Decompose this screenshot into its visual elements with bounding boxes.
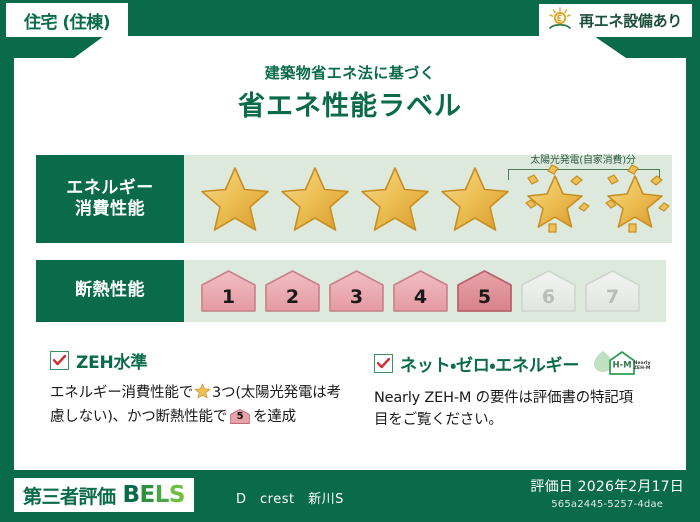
zeh-criteria-body: エネルギー消費性能で3つ(太陽光発電は考慮しない)、かつ断熱性能で5を達成 bbox=[50, 382, 350, 429]
star-rating bbox=[184, 163, 672, 235]
label-title: 省エネ性能ラベル bbox=[14, 84, 686, 123]
inline-star-icon bbox=[194, 383, 211, 406]
star-solar-6 bbox=[598, 163, 672, 235]
label-card: 建築物省エネ法に基づく 省エネ性能ラベル エネルギー 消費性能 太陽光発電(自家… bbox=[14, 36, 686, 470]
zeh-body-starcount: 3つ bbox=[212, 385, 235, 401]
insulation-level-3-number: 3 bbox=[326, 286, 387, 308]
footer-bar: 第三者評価 BELS D crest 新川S 評価日 2026年2月17日 56… bbox=[0, 470, 700, 522]
evaluation-date-label: 評価日 bbox=[530, 479, 573, 495]
insulation-level-1: 1 bbox=[198, 267, 259, 315]
svg-text:ZEH-M: ZEH-M bbox=[634, 365, 651, 371]
star-filled-2 bbox=[278, 163, 352, 235]
insulation-performance-label: 断熱性能 bbox=[36, 260, 184, 322]
net-zero-criteria-title: ネット・ゼロ・エネルギー bbox=[400, 351, 579, 376]
insulation-level-5: 5 bbox=[454, 267, 515, 315]
star-solar-5 bbox=[518, 163, 592, 235]
zeh-body-part1: エネルギー消費性能で bbox=[50, 385, 193, 401]
net-zero-criteria-block: ネット・ゼロ・エネルギー H-M Nearly ZEH-M Nearly ZEH… bbox=[374, 348, 674, 432]
energy-performance-row: エネルギー 消費性能 太陽光発電(自家消費)分 bbox=[36, 155, 666, 243]
sun-icon bbox=[547, 7, 573, 35]
insulation-level-5-number: 5 bbox=[454, 286, 515, 308]
renewable-equipment-badge: 再エネ設備あり bbox=[539, 4, 692, 37]
evaluation-date-value: 2026年2月17日 bbox=[578, 479, 684, 495]
svg-text:H-M: H-M bbox=[613, 361, 632, 371]
insulation-level-4: 4 bbox=[390, 267, 451, 315]
insulation-levels-panel: 1 2 3 bbox=[184, 260, 666, 322]
energy-performance-stars-panel: 太陽光発電(自家消費)分 bbox=[184, 155, 672, 243]
zeh-body-part4: を達成 bbox=[253, 409, 296, 425]
insulation-level-1-number: 1 bbox=[198, 286, 259, 308]
net-zero-body-line1: Nearly ZEH-M の要件は評価書の特記項 bbox=[374, 387, 674, 409]
building-type-label: 住宅 (住棟) bbox=[24, 8, 110, 33]
energy-label-line1: エネルギー bbox=[66, 178, 154, 199]
insulation-level-scale: 1 2 3 bbox=[184, 267, 643, 315]
label-root: 住宅 (住棟) 再エネ設備あり 建築物省エネ法に基づく 省エネ性能ラベル bbox=[0, 0, 700, 522]
insulation-label-text: 断熱性能 bbox=[75, 280, 145, 301]
evaluation-date: 評価日 2026年2月17日 bbox=[530, 476, 684, 496]
renewable-badge-label: 再エネ設備あり bbox=[579, 10, 682, 31]
zeh-body-part2: (太陽光発電 bbox=[235, 385, 312, 401]
insulation-level-3: 3 bbox=[326, 267, 387, 315]
star-filled-4 bbox=[438, 163, 512, 235]
zeh-criteria-block: ZEH水準 エネルギー消費性能で3つ(太陽光発電は考慮しない)、かつ断熱性能で5… bbox=[50, 348, 350, 429]
insulation-level-6: 6 bbox=[518, 267, 579, 315]
zeh-criteria-header: ZEH水準 bbox=[50, 348, 350, 373]
insulation-performance-row: 断熱性能 bbox=[36, 260, 666, 322]
bels-letter-l: L bbox=[155, 482, 169, 508]
energy-label-line2: 消費性能 bbox=[75, 199, 145, 220]
insulation-level-7-number: 7 bbox=[582, 286, 643, 308]
evaluation-info: 評価日 2026年2月17日 565a2445-5257-4dae bbox=[530, 476, 684, 510]
evaluation-id: 565a2445-5257-4dae bbox=[530, 499, 684, 510]
check-icon bbox=[374, 354, 393, 373]
property-name: D crest 新川S bbox=[236, 488, 344, 507]
net-zero-criteria-header: ネット・ゼロ・エネルギー H-M Nearly ZEH-M bbox=[374, 348, 674, 378]
insulation-level-2: 2 bbox=[262, 267, 323, 315]
star-filled-1 bbox=[198, 163, 272, 235]
bels-letter-e: E bbox=[140, 482, 155, 508]
bels-logo-text: BELS bbox=[123, 482, 185, 508]
bels-letter-b: B bbox=[123, 482, 140, 508]
net-zero-body-line2: 目をご覧ください。 bbox=[374, 409, 674, 431]
inline-house-badge-icon: 5 bbox=[229, 408, 251, 425]
insulation-level-4-number: 4 bbox=[390, 286, 451, 308]
third-party-evaluation-label: 第三者評価 bbox=[23, 482, 116, 509]
star-filled-3 bbox=[358, 163, 432, 235]
insulation-level-6-number: 6 bbox=[518, 286, 579, 308]
insulation-level-7: 7 bbox=[582, 267, 643, 315]
label-subtitle: 建築物省エネ法に基づく bbox=[14, 62, 686, 83]
bels-letter-s: S bbox=[169, 482, 185, 508]
net-zero-criteria-body: Nearly ZEH-M の要件は評価書の特記項 目をご覧ください。 bbox=[374, 387, 674, 432]
bels-badge: 第三者評価 BELS bbox=[14, 478, 194, 512]
zeh-criteria-title: ZEH水準 bbox=[76, 348, 147, 373]
insulation-level-2-number: 2 bbox=[262, 286, 323, 308]
inline-house-number: 5 bbox=[229, 409, 251, 425]
building-type-tag: 住宅 (住棟) bbox=[6, 3, 128, 37]
check-icon bbox=[50, 351, 69, 370]
zeh-m-logo-icon: H-M Nearly ZEH-M bbox=[590, 348, 652, 378]
energy-performance-label: エネルギー 消費性能 bbox=[36, 155, 184, 243]
